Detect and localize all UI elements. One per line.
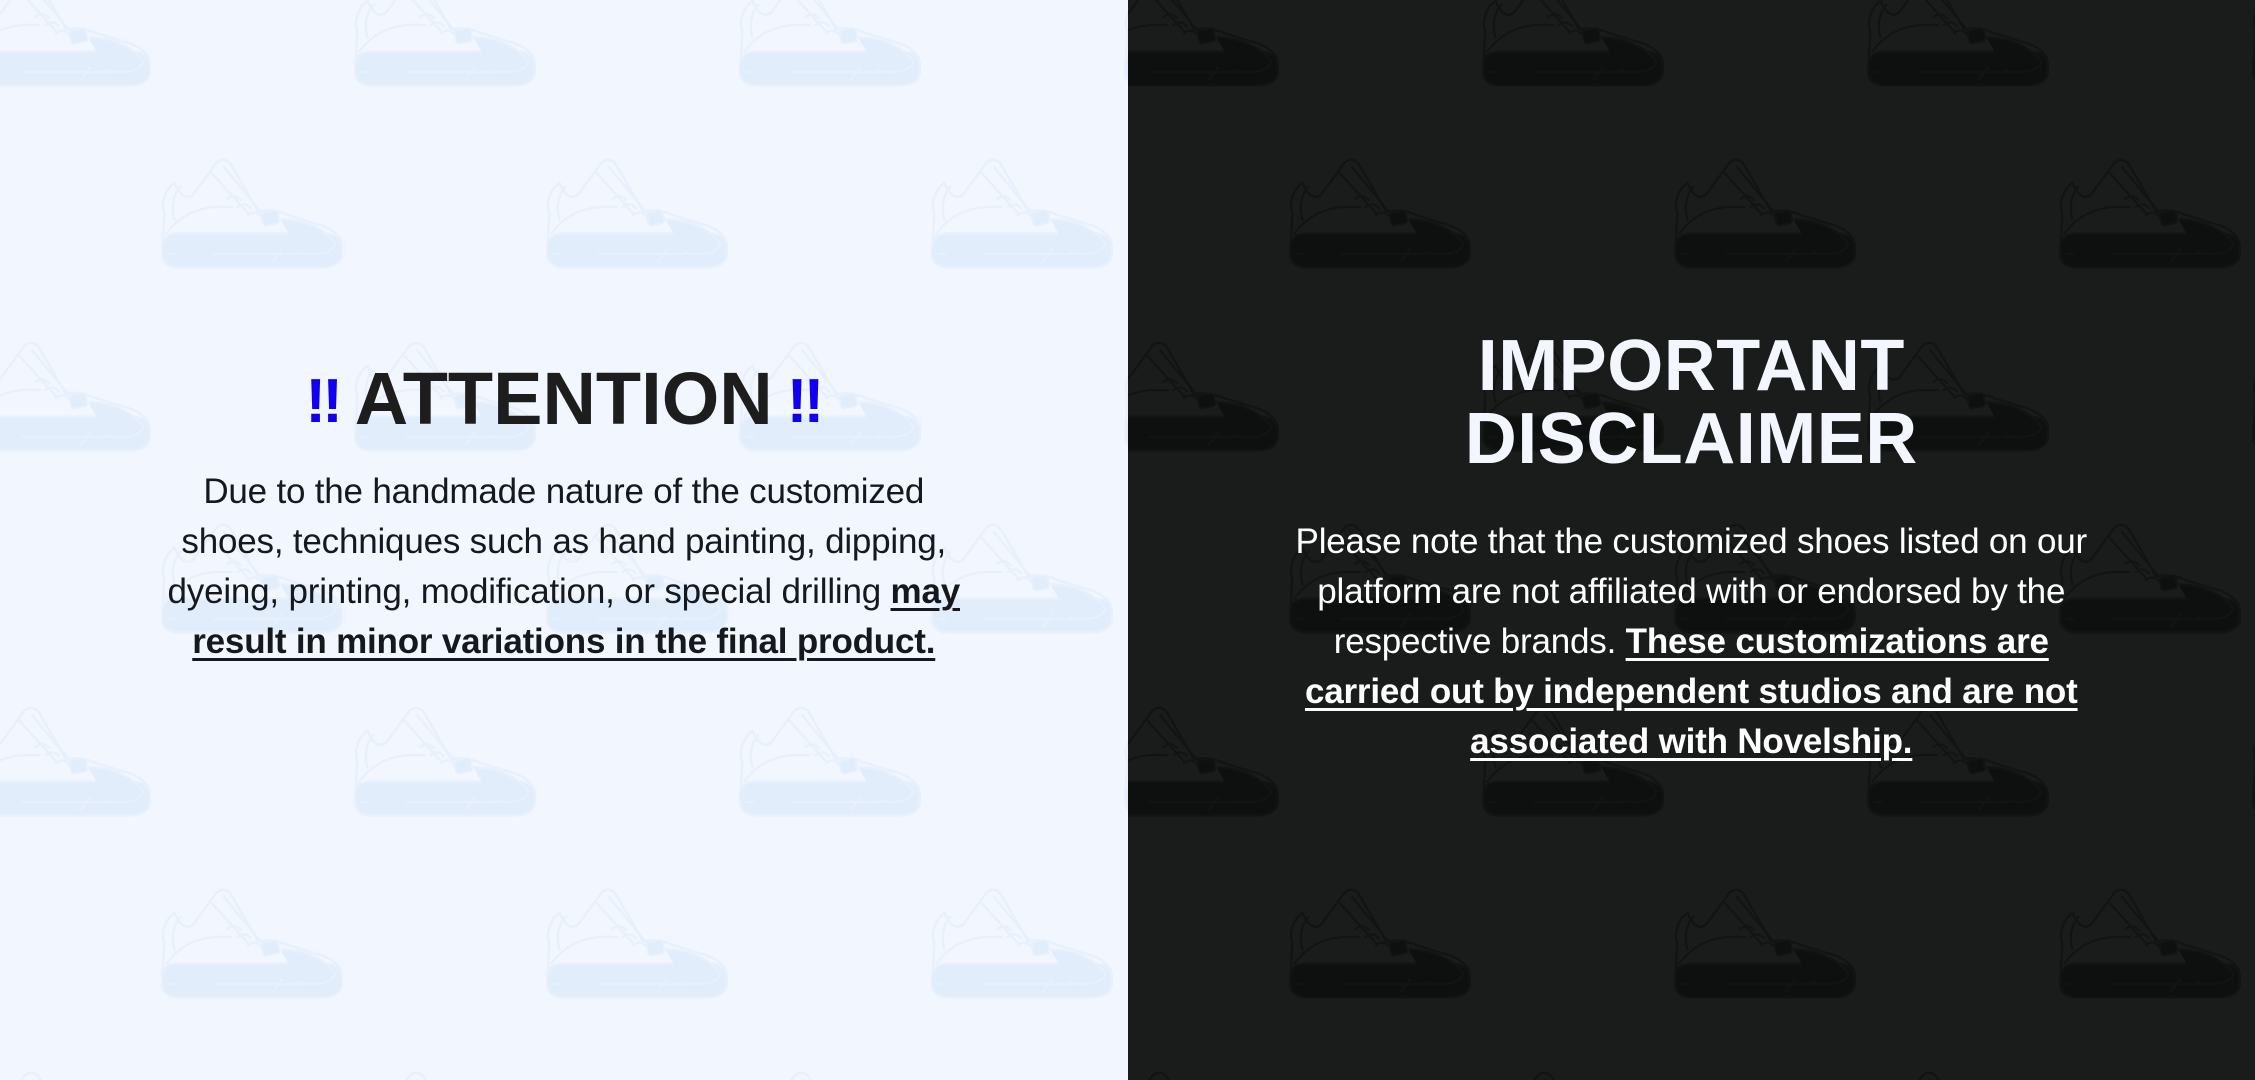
disclaimer-heading-line1: IMPORTANT	[1478, 326, 1905, 406]
double-exclamation-right-icon: ‼	[787, 367, 822, 436]
disclaimer-banner: ‼ATTENTION‼ Due to the handmade nature o…	[0, 0, 2255, 1080]
disclaimer-panel: IMPORTANT DISCLAIMER Please note that th…	[1128, 0, 2255, 1080]
disclaimer-body-text: Please note that the customized shoes li…	[1276, 517, 2106, 767]
attention-body-text: Due to the handmade nature of the custom…	[164, 467, 964, 667]
disclaimer-panel-content: IMPORTANT DISCLAIMER Please note that th…	[1128, 0, 2255, 767]
double-exclamation-left-icon: ‼	[305, 367, 340, 436]
attention-body-normal: Due to the handmade nature of the custom…	[168, 472, 947, 611]
disclaimer-heading: IMPORTANT DISCLAIMER	[1465, 330, 1918, 477]
disclaimer-heading-line2: DISCLAIMER	[1465, 399, 1918, 479]
attention-panel: ‼ATTENTION‼ Due to the handmade nature o…	[0, 0, 1128, 1080]
attention-heading: ‼ATTENTION‼	[305, 364, 822, 434]
attention-panel-content: ‼ATTENTION‼ Due to the handmade nature o…	[0, 0, 1128, 667]
attention-heading-word: ATTENTION	[355, 357, 773, 440]
